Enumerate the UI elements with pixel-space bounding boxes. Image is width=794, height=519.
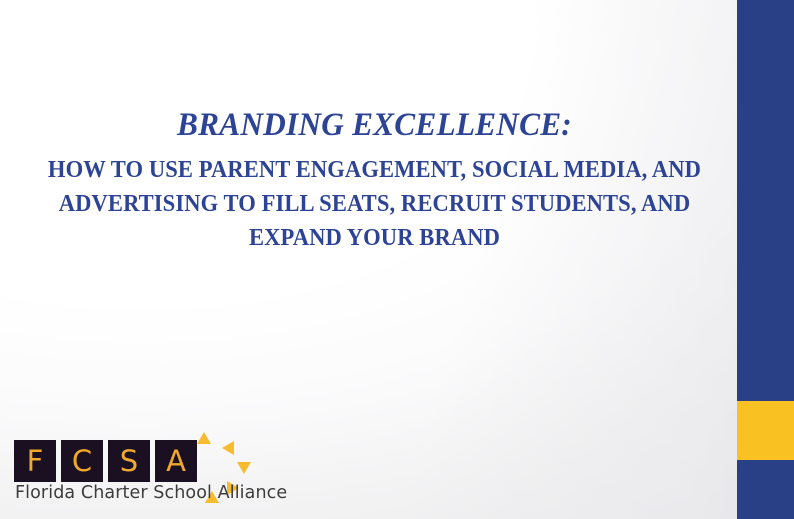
logo-letter-tiles: F C S A [14,440,197,482]
logo-tile-s: S [108,440,150,482]
page-subtitle: HOW TO USE PARENT ENGAGEMENT, SOCIAL MED… [39,153,709,255]
logo-tile-f: F [14,440,56,482]
arc-triangle-up-icon [197,432,211,444]
subtitle-line-2: ADVERTISING TO FILL SEATS, RECRUIT STUDE… [39,187,709,221]
title-block: BRANDING EXCELLENCE: HOW TO USE PARENT E… [18,108,731,255]
right-gold-accent-block [737,401,794,460]
arc-triangle-left-icon [222,441,234,455]
arc-triangle-down-icon [237,462,251,474]
logo-wordmark: Florida Charter School Alliance [15,483,287,503]
fcsa-logo: F C S A Florida Charter School Alliance [13,418,263,506]
page-title: BRANDING EXCELLENCE: [36,108,713,144]
subtitle-line-3: EXPAND YOUR BRAND [39,221,709,255]
slide-canvas: BRANDING EXCELLENCE: HOW TO USE PARENT E… [0,0,794,519]
subtitle-line-1: HOW TO USE PARENT ENGAGEMENT, SOCIAL MED… [39,153,709,187]
logo-tile-a: A [155,440,197,482]
logo-tile-c: C [61,440,103,482]
